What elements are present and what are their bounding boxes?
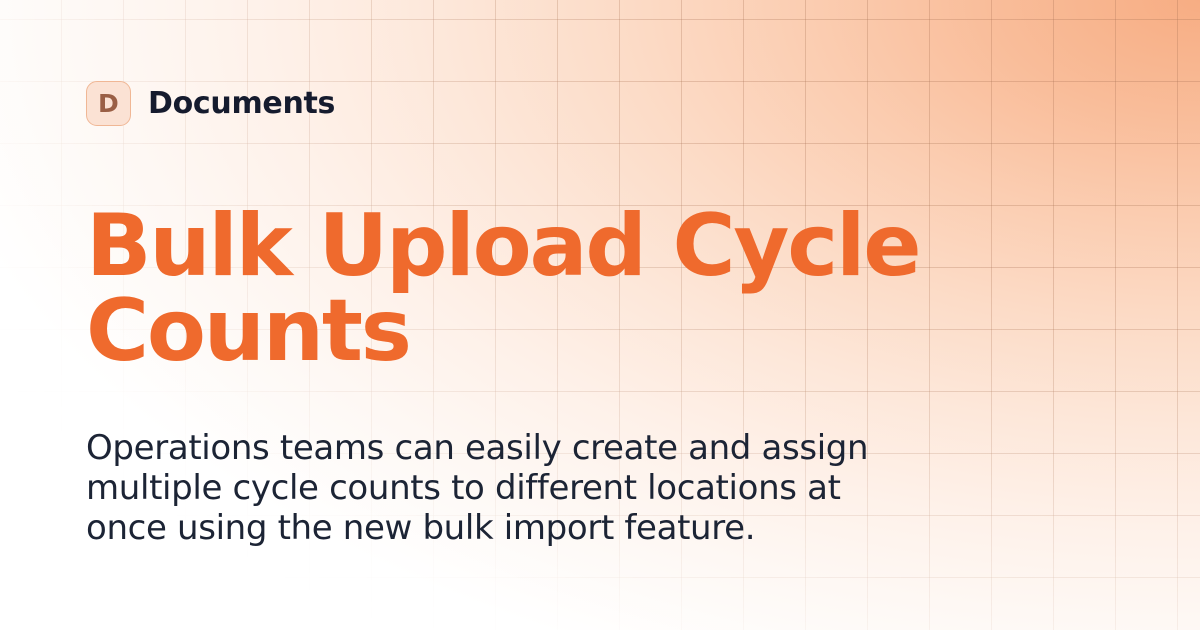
page-title: Bulk Upload Cycle Counts	[86, 204, 966, 374]
page-subtitle: Operations teams can easily create and a…	[86, 428, 886, 548]
category-badge: D	[86, 81, 131, 126]
category-label: Documents	[148, 89, 335, 119]
card-content: D Documents Bulk Upload Cycle Counts Ope…	[86, 0, 1086, 630]
category-badge-letter: D	[98, 91, 119, 116]
category-eyebrow: D Documents	[86, 81, 335, 126]
hero-card: D Documents Bulk Upload Cycle Counts Ope…	[0, 0, 1200, 630]
